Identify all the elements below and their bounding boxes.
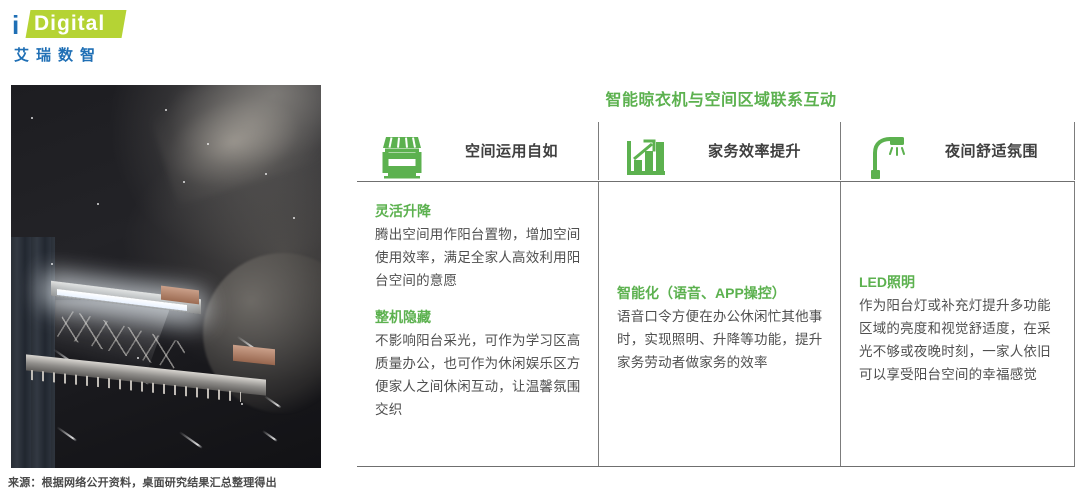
photo-star <box>265 173 267 175</box>
photo-star <box>183 181 185 183</box>
content-block: LED照明 作为阳台灯或补充灯提升多功能区域的亮度和视觉舒适度，在采光不够或夜晚… <box>859 271 1060 386</box>
photo-curtain <box>11 237 55 468</box>
photo-star <box>51 263 53 265</box>
table-header-label: 夜间舒适氛围 <box>909 140 1074 163</box>
logo-wordmark: i Digital <box>12 8 162 42</box>
table-header-cell-efficiency: 家务效率提升 <box>599 122 841 180</box>
photo-star <box>207 143 209 145</box>
brand-logo: i Digital 艾瑞数智 <box>12 8 162 66</box>
photo-star <box>165 109 167 111</box>
table-cell-efficiency: 智能化（语音、APP操控） 语音口令方便在办公休闲忙其他事时，实现照明、升降等功… <box>599 182 841 466</box>
table-header-row: 空间运用自如 家务效率提升 <box>357 122 1075 180</box>
content-block-body: 作为阳台灯或补充灯提升多功能区域的亮度和视觉舒适度，在采光不够或夜晚时刻，一家人… <box>859 294 1060 386</box>
content-block-body: 不影响阳台采光，可作为学习区高质量办公，也可作为休闲娱乐区方便家人之间休闲互动，… <box>375 329 584 421</box>
content-block-heading: 整机隐藏 <box>375 306 584 328</box>
content-block-body: 腾出空间用作阳台置物，增加空间使用效率，满足全家人高效利用阳台空间的意愿 <box>375 223 584 292</box>
content-block-body: 语音口令方便在办公休闲忙其他事时，实现照明、升降等功能，提升家务劳动者做家务的效… <box>617 305 826 374</box>
content-block: 智能化（语音、APP操控） 语音口令方便在办公休闲忙其他事时，实现照明、升降等功… <box>617 282 826 374</box>
table-cell-ambience: LED照明 作为阳台灯或补充灯提升多功能区域的亮度和视觉舒适度，在采光不够或夜晚… <box>841 182 1075 466</box>
logo-letter-i: i <box>12 12 19 38</box>
table-header-cell-ambience: 夜间舒适氛围 <box>841 122 1075 180</box>
content-block: 整机隐藏 不影响阳台采光，可作为学习区高质量办公，也可作为休闲娱乐区方便家人之间… <box>375 306 584 421</box>
table-body-row: 灵活升降 腾出空间用作阳台置物，增加空间使用效率，满足全家人高效利用阳台空间的意… <box>357 181 1075 467</box>
table-header-label: 空间运用自如 <box>425 140 598 163</box>
photo-star <box>241 403 243 405</box>
table-header-cell-space: 空间运用自如 <box>357 122 599 180</box>
info-panel: 智能晾衣机与空间区域联系互动 空间运用自如 <box>357 84 1075 468</box>
product-photo <box>11 85 321 468</box>
table-header-label: 家务效率提升 <box>669 140 840 163</box>
logo-word-digital: Digital <box>34 13 105 35</box>
photo-star <box>31 117 33 119</box>
source-note: 来源：根据网络公开资料，桌面研究结果汇总整理得出 <box>8 474 277 490</box>
content-block-heading: 灵活升降 <box>375 200 584 222</box>
table-cell-space: 灵活升降 腾出空间用作阳台置物，增加空间使用效率，满足全家人高效利用阳台空间的意… <box>357 182 599 466</box>
photo-star <box>97 203 99 205</box>
panel-title: 智能晾衣机与空间区域联系互动 <box>357 86 1075 110</box>
content-block-heading: 智能化（语音、APP操控） <box>617 282 826 304</box>
content-block: 灵活升降 腾出空间用作阳台置物，增加空间使用效率，满足全家人高效利用阳台空间的意… <box>375 200 584 292</box>
market-stall-icon <box>379 123 425 179</box>
bar-chart-growth-icon <box>623 123 669 179</box>
photo-star <box>293 217 295 219</box>
logo-chinese-name: 艾瑞数智 <box>14 44 102 65</box>
street-lamp-icon <box>863 123 909 179</box>
content-block-heading: LED照明 <box>859 271 1060 293</box>
